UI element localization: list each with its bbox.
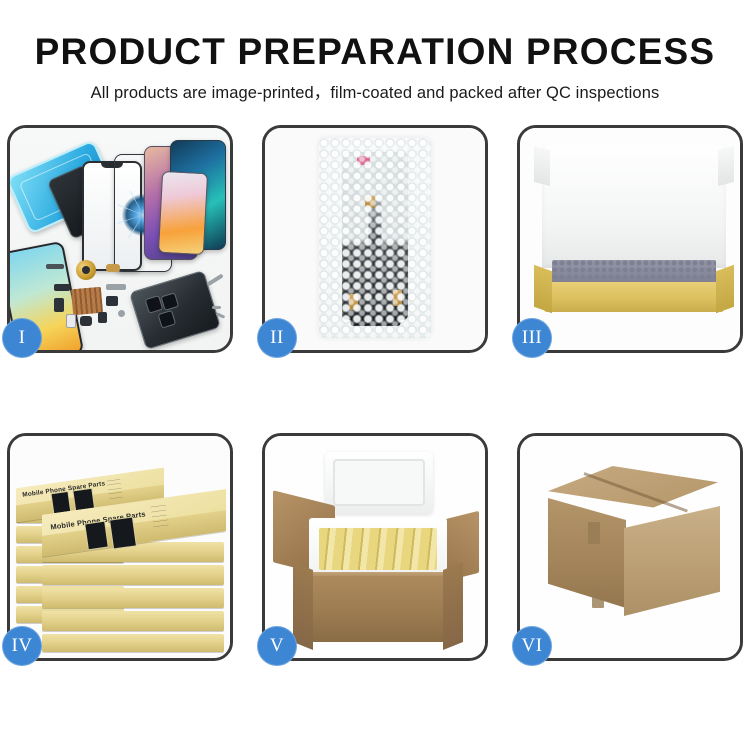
foam-lid	[325, 452, 433, 514]
step-panel-1: I	[7, 125, 233, 353]
carton-right-face	[624, 506, 720, 616]
box-spec-lines: ————————————————————	[107, 477, 123, 501]
step-2-image	[265, 128, 485, 350]
small-part	[54, 284, 70, 291]
carton-tape-lower	[592, 590, 604, 608]
page-title: PRODUCT PREPARATION PROCESS	[0, 30, 750, 74]
orange-gradient-phone	[158, 171, 208, 255]
step-4-image: Mobile Phone Spare Parts ———————————————…	[10, 436, 230, 658]
step-panel-3: III	[517, 125, 743, 353]
stacked-box	[42, 588, 224, 608]
carton-left-face	[548, 498, 626, 608]
box-stack: Mobile Phone Spare Parts ———————————————…	[16, 454, 230, 650]
stacked-box	[42, 634, 224, 652]
carton-body	[303, 576, 453, 642]
box-screen-artwork	[84, 521, 109, 551]
step-6-image	[520, 436, 740, 658]
box-spec-lines: ————————————————————	[150, 503, 169, 530]
small-part	[118, 310, 125, 317]
step-panel-4: Mobile Phone Spare Parts ———————————————…	[7, 433, 233, 661]
small-part	[106, 284, 126, 290]
box-screen-artwork	[109, 516, 137, 549]
step-panel-2: II	[262, 125, 488, 353]
step-badge-6: VI	[512, 626, 552, 666]
yellow-box-base	[544, 282, 724, 312]
step-panel-6: VI	[517, 433, 743, 661]
yellow-boxes-inside	[319, 528, 437, 570]
step-badge-2: II	[257, 318, 297, 358]
connector-grid-chip	[71, 287, 103, 316]
bubble-texture-highlight	[319, 138, 431, 338]
stacked-box	[42, 611, 224, 631]
stacked-box	[42, 565, 224, 585]
camera-module-gold	[76, 260, 96, 280]
small-part	[66, 314, 76, 328]
foam-case	[309, 518, 447, 580]
bubble-wrap-bag	[319, 138, 431, 338]
small-part	[80, 316, 92, 326]
small-part	[54, 298, 64, 312]
small-part	[106, 264, 120, 272]
step-badge-4: IV	[2, 626, 42, 666]
step-badge-1: I	[2, 318, 42, 358]
product-preparation-infographic: PRODUCT PREPARATION PROCESS All products…	[0, 0, 750, 750]
step-badge-3: III	[512, 318, 552, 358]
step-badge-5: V	[257, 626, 297, 666]
small-screw	[212, 306, 221, 309]
process-steps-grid: I II	[0, 125, 750, 661]
screwdriver	[206, 274, 223, 287]
page-subtitle: All products are image-printed，film-coat…	[0, 83, 750, 103]
step-5-image	[265, 436, 485, 658]
carton-tape-upper	[588, 522, 600, 544]
step-1-image	[10, 128, 230, 350]
small-part	[98, 312, 107, 323]
header: PRODUCT PREPARATION PROCESS All products…	[0, 0, 750, 103]
small-part	[106, 296, 118, 306]
small-part	[46, 264, 64, 269]
step-panel-5: V	[262, 433, 488, 661]
step-3-image	[520, 128, 740, 350]
white-box-lid	[542, 144, 726, 268]
